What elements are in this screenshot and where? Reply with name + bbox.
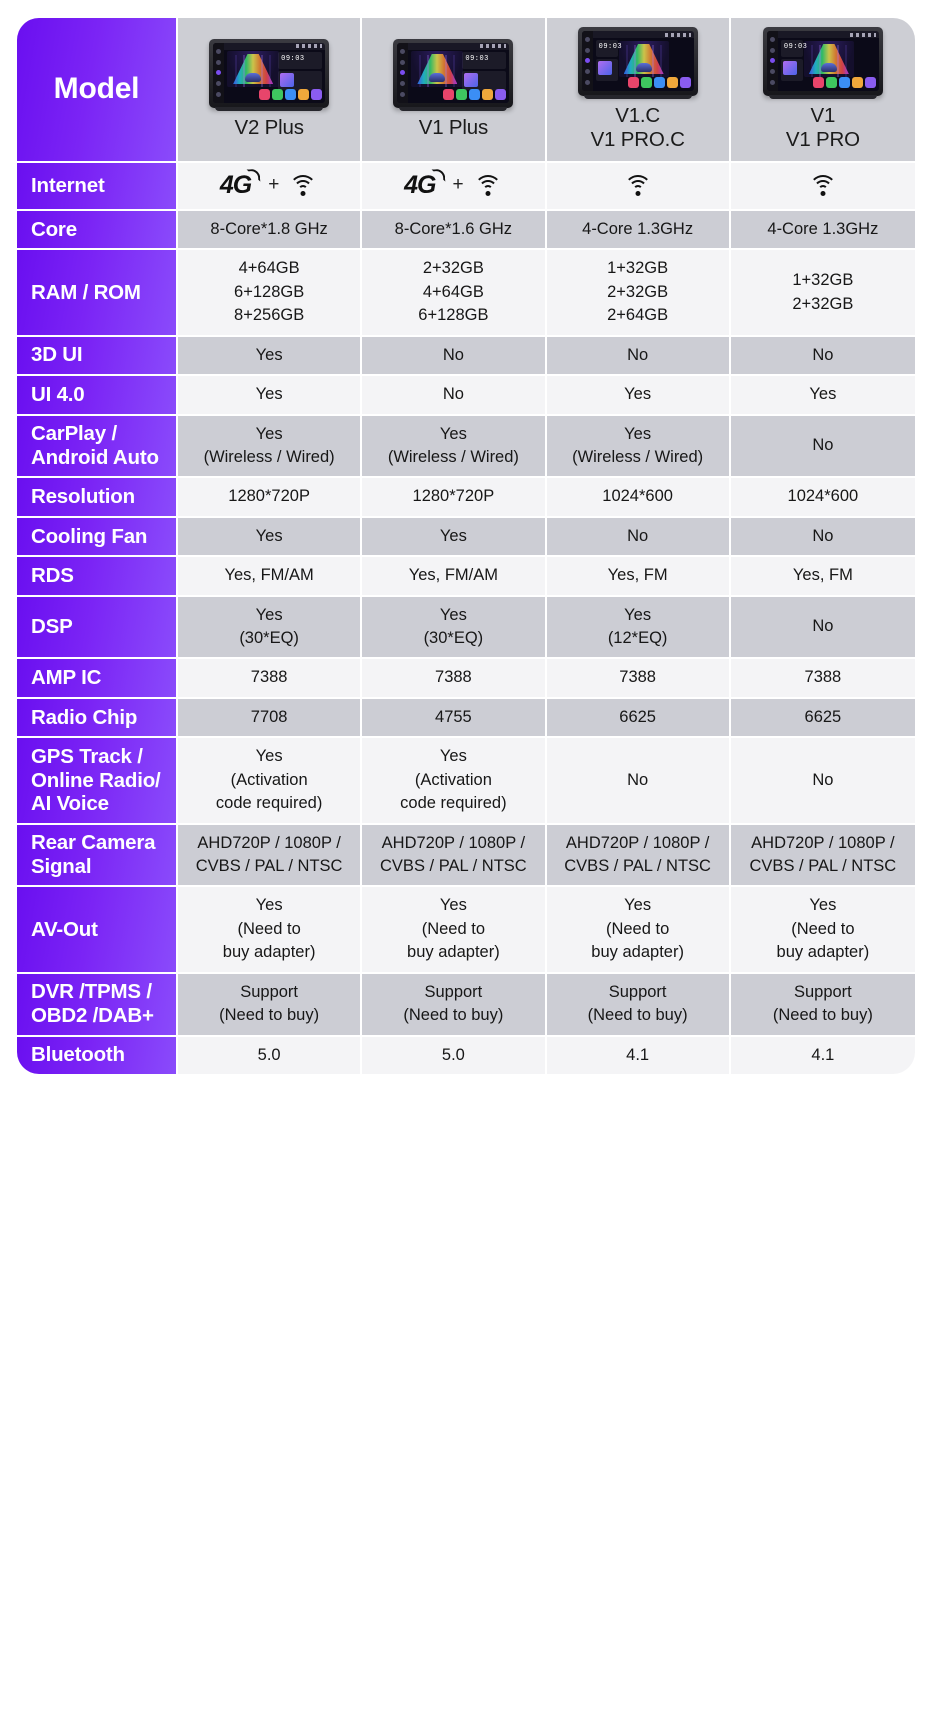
spec-value-line: AHD720P / 1080P / — [553, 832, 723, 855]
spec-value-line: Yes — [184, 423, 354, 446]
table-header-row: Model09:03V2 Plus09:03V1 Plus09:03V1.CV1… — [17, 18, 915, 163]
spec-value: 4-Core 1.3GHz — [547, 211, 731, 250]
internet-icons — [553, 170, 723, 202]
spec-value: No — [731, 597, 915, 660]
side-rail-icons — [213, 43, 224, 103]
spec-value: 1024*600 — [547, 478, 731, 517]
spec-value: No — [547, 738, 731, 824]
spec-value-line: AHD720P / 1080P / — [184, 832, 354, 855]
spec-value-line: No — [737, 769, 909, 792]
page-title: Model — [54, 72, 140, 105]
spec-label: Bluetooth — [17, 1037, 178, 1074]
spec-value-line: Yes — [368, 745, 538, 768]
spec-value: No — [731, 416, 915, 479]
spec-value-line: Support — [184, 981, 354, 1004]
spec-row: CarPlay / Android AutoYes(Wireless / Wir… — [17, 416, 915, 479]
spec-value-line: Yes — [368, 894, 538, 917]
spec-value-line: buy adapter) — [737, 941, 909, 964]
spec-value-line: 7388 — [184, 666, 354, 689]
spec-value: Yes(30*EQ) — [178, 597, 362, 660]
spec-value: Yes(Need tobuy adapter) — [547, 887, 731, 973]
spec-value: 8-Core*1.6 GHz — [362, 211, 546, 250]
spec-value-line: No — [368, 383, 538, 406]
spec-label: RDS — [17, 557, 178, 596]
spec-row: GPS Track / Online Radio/ AI VoiceYes(Ac… — [17, 738, 915, 824]
side-rail-icons — [767, 31, 778, 91]
wifi-icon — [623, 174, 653, 197]
spec-value-line: AHD720P / 1080P / — [737, 832, 909, 855]
spec-row: Bluetooth5.05.04.14.1 — [17, 1037, 915, 1074]
spec-value-line: (Need to — [553, 918, 723, 941]
spec-value-line: (Need to — [737, 918, 909, 941]
spec-label: 3D UI — [17, 337, 178, 376]
spec-value-line: CVBS / PAL / NTSC — [553, 855, 723, 878]
spec-row: Resolution1280*720P1280*720P1024*6001024… — [17, 478, 915, 517]
spec-value-line: buy adapter) — [553, 941, 723, 964]
spec-value: 4.1 — [547, 1037, 731, 1074]
spec-value-line: Yes — [184, 525, 354, 548]
spec-value-line: (Need to — [368, 918, 538, 941]
spec-value-line: 5.0 — [184, 1044, 354, 1067]
spec-value: Yes(Wireless / Wired) — [362, 416, 546, 479]
spec-value-line: Yes, FM/AM — [184, 564, 354, 587]
head-unit-image: 09:03 — [209, 39, 329, 108]
model-column-header: 09:03V1.CV1 PRO.C — [547, 18, 731, 163]
spec-value: No — [362, 337, 546, 376]
spec-value-line: (Wireless / Wired) — [368, 446, 538, 469]
spec-row: Radio Chip7708475566256625 — [17, 699, 915, 738]
spec-value: Yes(Need tobuy adapter) — [178, 887, 362, 973]
spec-row: DVR /TPMS / OBD2 /DAB+Support(Need to bu… — [17, 974, 915, 1037]
spec-value: Yes, FM — [731, 557, 915, 596]
spec-value-line: 4755 — [368, 706, 538, 729]
spec-value: Yes — [362, 518, 546, 557]
spec-value: Support(Need to buy) — [731, 974, 915, 1037]
spec-value-line: (Activation — [184, 769, 354, 792]
spec-value-line: 2+64GB — [553, 304, 723, 327]
spec-value-line: (30*EQ) — [184, 627, 354, 650]
spec-value: 8-Core*1.8 GHz — [178, 211, 362, 250]
spec-value-line: 7388 — [553, 666, 723, 689]
model-column-header: 09:03V2 Plus — [178, 18, 362, 163]
spec-value-line: No — [737, 344, 909, 367]
spec-value-line: Yes — [184, 604, 354, 627]
spec-value-line: (30*EQ) — [368, 627, 538, 650]
spec-row: Core8-Core*1.8 GHz8-Core*1.6 GHz4-Core 1… — [17, 211, 915, 250]
spec-value-line: Yes — [368, 525, 538, 548]
model-name: V1V1 PRO — [735, 104, 911, 152]
spec-value-line: Yes — [184, 383, 354, 406]
4g-icon: 4G — [404, 168, 443, 204]
spec-value-line: 5.0 — [368, 1044, 538, 1067]
spec-value-line: Yes — [553, 604, 723, 627]
spec-value-line: Yes, FM/AM — [368, 564, 538, 587]
spec-value-line: CVBS / PAL / NTSC — [737, 855, 909, 878]
spec-value-line: No — [553, 344, 723, 367]
spec-row: DSPYes(30*EQ)Yes(30*EQ)Yes(12*EQ)No — [17, 597, 915, 660]
spec-value: 1+32GB2+32GB — [731, 250, 915, 336]
spec-value: No — [731, 738, 915, 824]
spec-value-line: 8-Core*1.6 GHz — [368, 218, 538, 241]
spec-value: Yes(Need tobuy adapter) — [731, 887, 915, 973]
head-unit-image: 09:03 — [763, 27, 883, 96]
spec-value-line: Support — [553, 981, 723, 1004]
internet-icons: 4G+ — [368, 170, 538, 202]
spec-value-line: 2+32GB — [368, 257, 538, 280]
spec-value: Yes — [547, 376, 731, 415]
spec-value-line: (Activation — [368, 769, 538, 792]
head-unit-image: 09:03 — [393, 39, 513, 108]
spec-value-line: No — [737, 615, 909, 638]
spec-value: 1280*720P — [178, 478, 362, 517]
spec-value-line: 4-Core 1.3GHz — [737, 218, 909, 241]
spec-value-line: 7708 — [184, 706, 354, 729]
spec-value-line: Yes — [553, 423, 723, 446]
spec-value: 6625 — [547, 699, 731, 738]
internet-icons — [737, 170, 909, 202]
spec-value: 7388 — [178, 659, 362, 698]
spec-value: 7388 — [731, 659, 915, 698]
spec-row: UI 4.0YesNoYesYes — [17, 376, 915, 415]
spec-row: Internet4G+4G+ — [17, 163, 915, 211]
spec-value: Yes, FM/AM — [178, 557, 362, 596]
spec-value: Yes — [178, 518, 362, 557]
spec-row: RAM / ROM4+64GB6+128GB8+256GB2+32GB4+64G… — [17, 250, 915, 336]
spec-value-line: (Need to buy) — [368, 1004, 538, 1027]
spec-value-line: 7388 — [737, 666, 909, 689]
4g-icon: 4G — [220, 168, 259, 204]
spec-label: Cooling Fan — [17, 518, 178, 557]
model-name: V2 Plus — [182, 116, 356, 140]
spec-row: RDSYes, FM/AMYes, FM/AMYes, FMYes, FM — [17, 557, 915, 596]
spec-label: AV-Out — [17, 887, 178, 973]
spec-row: Cooling FanYesYesNoNo — [17, 518, 915, 557]
spec-value: Yes, FM — [547, 557, 731, 596]
spec-value-line: 1280*720P — [184, 485, 354, 508]
model-name: V1 Plus — [366, 116, 540, 140]
spec-value-line: No — [553, 769, 723, 792]
spec-row: AMP IC7388738873887388 — [17, 659, 915, 698]
spec-value-line: 7388 — [368, 666, 538, 689]
spec-value-line: 1024*600 — [737, 485, 909, 508]
spec-value: 4G+ — [178, 163, 362, 211]
spec-value-line: No — [737, 525, 909, 548]
header-model-label: Model — [17, 18, 178, 163]
side-rail-icons — [582, 31, 593, 91]
spec-value-line: 6+128GB — [184, 281, 354, 304]
model-column-header: 09:03V1 Plus — [362, 18, 546, 163]
spec-value-line: buy adapter) — [368, 941, 538, 964]
spec-value: Yes(Activationcode required) — [362, 738, 546, 824]
spec-value-line: Yes — [184, 745, 354, 768]
spec-value: No — [547, 518, 731, 557]
spec-value: Yes, FM/AM — [362, 557, 546, 596]
spec-value-line: Support — [368, 981, 538, 1004]
spec-value-line: Yes, FM — [553, 564, 723, 587]
spec-value: 2+32GB4+64GB6+128GB — [362, 250, 546, 336]
spec-value: 4.1 — [731, 1037, 915, 1074]
spec-label: DVR /TPMS / OBD2 /DAB+ — [17, 974, 178, 1037]
spec-value-line: 8-Core*1.8 GHz — [184, 218, 354, 241]
spec-label: GPS Track / Online Radio/ AI Voice — [17, 738, 178, 824]
spec-value-line: CVBS / PAL / NTSC — [368, 855, 538, 878]
spec-value-line: Yes — [368, 423, 538, 446]
spec-value: 4G+ — [362, 163, 546, 211]
model-column-header: 09:03V1V1 PRO — [731, 18, 915, 163]
spec-value-line: Yes — [184, 344, 354, 367]
spec-label: Core — [17, 211, 178, 250]
spec-value-line: code required) — [368, 792, 538, 815]
spec-value-line: 1024*600 — [553, 485, 723, 508]
spec-label: UI 4.0 — [17, 376, 178, 415]
spec-value: Support(Need to buy) — [362, 974, 546, 1037]
spec-value: Support(Need to buy) — [547, 974, 731, 1037]
spec-label: AMP IC — [17, 659, 178, 698]
spec-value-line: Yes — [553, 383, 723, 406]
spec-value-line: (Need to buy) — [184, 1004, 354, 1027]
spec-value-line: (Need to — [184, 918, 354, 941]
spec-value-line: 4-Core 1.3GHz — [553, 218, 723, 241]
spec-value: Yes — [178, 376, 362, 415]
spec-value: 7708 — [178, 699, 362, 738]
spec-value-line: 1+32GB — [553, 257, 723, 280]
spec-value-line: 6+128GB — [368, 304, 538, 327]
spec-label: CarPlay / Android Auto — [17, 416, 178, 479]
spec-value: 7388 — [362, 659, 546, 698]
spec-value-line: Yes — [184, 894, 354, 917]
spec-value: No — [731, 518, 915, 557]
spec-value-line: 2+32GB — [737, 293, 909, 316]
spec-value: 1280*720P — [362, 478, 546, 517]
spec-value-line: Yes, FM — [737, 564, 909, 587]
spec-value: 7388 — [547, 659, 731, 698]
spec-value-line: 1+32GB — [737, 269, 909, 292]
spec-value-line: buy adapter) — [184, 941, 354, 964]
wifi-icon — [473, 174, 503, 197]
spec-value-line: No — [553, 525, 723, 548]
spec-value: Yes(Wireless / Wired) — [178, 416, 362, 479]
spec-value-line: 1280*720P — [368, 485, 538, 508]
spec-value-line: 6625 — [553, 706, 723, 729]
spec-label: Rear Camera Signal — [17, 825, 178, 888]
spec-value: 4+64GB6+128GB8+256GB — [178, 250, 362, 336]
spec-value: 6625 — [731, 699, 915, 738]
spec-value-line: Yes — [737, 383, 909, 406]
spec-value: Yes — [731, 376, 915, 415]
spec-value — [731, 163, 915, 211]
internet-icons: 4G+ — [184, 170, 354, 202]
spec-value-line: CVBS / PAL / NTSC — [184, 855, 354, 878]
spec-value: 1+32GB2+32GB2+64GB — [547, 250, 731, 336]
spec-value: 4-Core 1.3GHz — [731, 211, 915, 250]
spec-value-line: 2+32GB — [553, 281, 723, 304]
wifi-icon — [808, 174, 838, 197]
spec-value-line: No — [368, 344, 538, 367]
spec-value-line: Yes — [737, 894, 909, 917]
spec-value-line: 4.1 — [737, 1044, 909, 1067]
side-rail-icons — [397, 43, 408, 103]
plus-sign: + — [453, 172, 464, 199]
model-name: V1.CV1 PRO.C — [551, 104, 725, 152]
spec-value: No — [731, 337, 915, 376]
spec-value: AHD720P / 1080P /CVBS / PAL / NTSC — [547, 825, 731, 888]
spec-label: Radio Chip — [17, 699, 178, 738]
spec-value-line: (12*EQ) — [553, 627, 723, 650]
spec-value: Yes(12*EQ) — [547, 597, 731, 660]
spec-value-line: Support — [737, 981, 909, 1004]
spec-value: No — [362, 376, 546, 415]
spec-value-line: (Wireless / Wired) — [184, 446, 354, 469]
spec-value: AHD720P / 1080P /CVBS / PAL / NTSC — [731, 825, 915, 888]
spec-row: Rear Camera SignalAHD720P / 1080P /CVBS … — [17, 825, 915, 888]
spec-value-line: AHD720P / 1080P / — [368, 832, 538, 855]
spec-row: AV-OutYes(Need tobuy adapter)Yes(Need to… — [17, 887, 915, 973]
spec-value-line: (Wireless / Wired) — [553, 446, 723, 469]
spec-value-line: No — [737, 434, 909, 457]
spec-value-line: 4.1 — [553, 1044, 723, 1067]
spec-value: 5.0 — [178, 1037, 362, 1074]
head-unit-image: 09:03 — [578, 27, 698, 96]
spec-value: AHD720P / 1080P /CVBS / PAL / NTSC — [178, 825, 362, 888]
spec-value-line: (Need to buy) — [553, 1004, 723, 1027]
spec-value: 5.0 — [362, 1037, 546, 1074]
spec-label: DSP — [17, 597, 178, 660]
spec-label: Resolution — [17, 478, 178, 517]
spec-value-line: 6625 — [737, 706, 909, 729]
plus-sign: + — [268, 172, 279, 199]
spec-row: 3D UIYesNoNoNo — [17, 337, 915, 376]
comparison-sheet: Model09:03V2 Plus09:03V1 Plus09:03V1.CV1… — [0, 0, 930, 1731]
spec-value-line: Yes — [553, 894, 723, 917]
spec-value: Yes(Need tobuy adapter) — [362, 887, 546, 973]
spec-label: RAM / ROM — [17, 250, 178, 336]
spec-value: Yes(30*EQ) — [362, 597, 546, 660]
model-comparison-table: Model09:03V2 Plus09:03V1 Plus09:03V1.CV1… — [17, 18, 915, 1074]
spec-value: AHD720P / 1080P /CVBS / PAL / NTSC — [362, 825, 546, 888]
spec-value: Yes(Wireless / Wired) — [547, 416, 731, 479]
spec-value-line: 4+64GB — [184, 257, 354, 280]
spec-value-line: 4+64GB — [368, 281, 538, 304]
spec-value-line: Yes — [368, 604, 538, 627]
spec-value — [547, 163, 731, 211]
spec-value-line: code required) — [184, 792, 354, 815]
spec-value: Support(Need to buy) — [178, 974, 362, 1037]
spec-value: No — [547, 337, 731, 376]
spec-value-line: 8+256GB — [184, 304, 354, 327]
wifi-icon — [288, 174, 318, 197]
spec-value: Yes — [178, 337, 362, 376]
spec-value: 4755 — [362, 699, 546, 738]
spec-label: Internet — [17, 163, 178, 211]
spec-value: Yes(Activationcode required) — [178, 738, 362, 824]
spec-value: 1024*600 — [731, 478, 915, 517]
spec-value-line: (Need to buy) — [737, 1004, 909, 1027]
